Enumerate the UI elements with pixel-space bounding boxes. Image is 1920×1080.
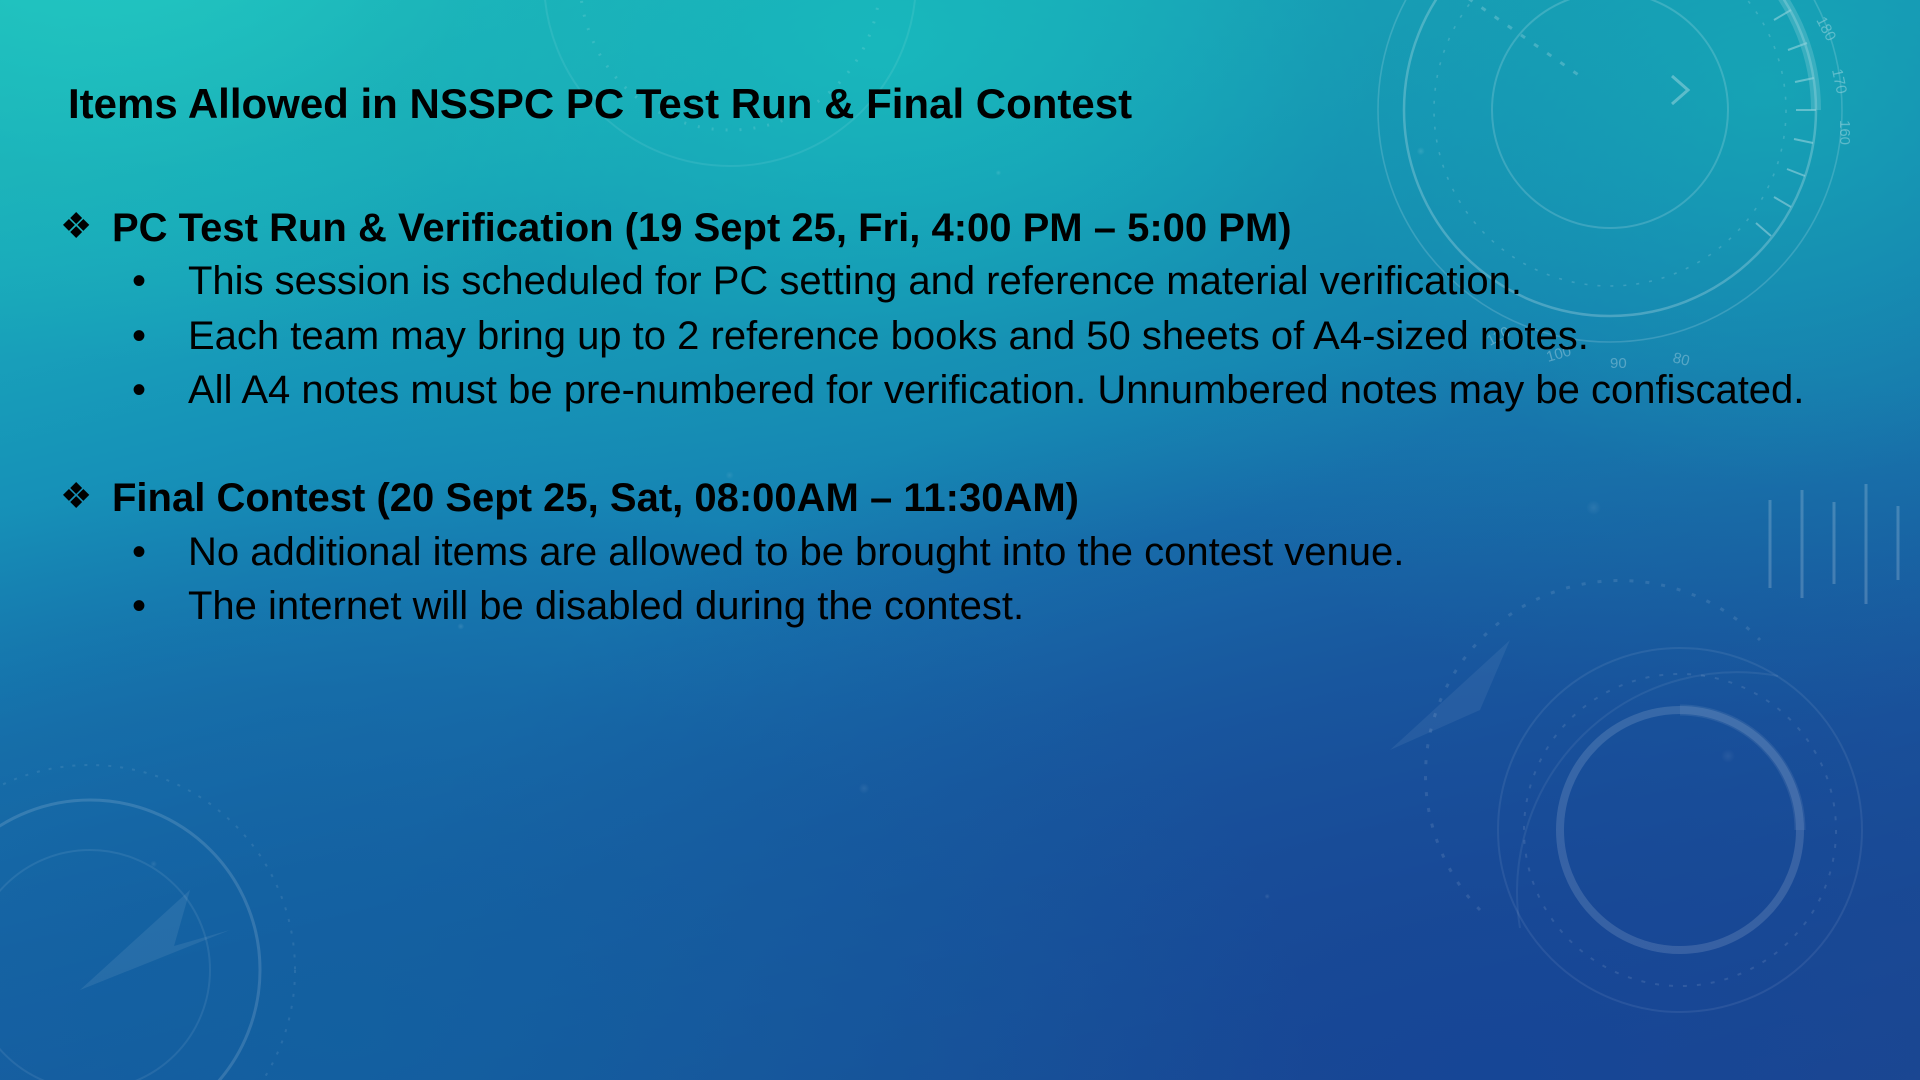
section-bullet-list: • No additional items are allowed to be …	[60, 525, 1920, 634]
list-item-text: Each team may bring up to 2 reference bo…	[188, 309, 1888, 363]
presentation-slide: 160 170 180 190 200 210 110 100 90 80	[0, 0, 1920, 1080]
section-pc-test-run: ❖ PC Test Run & Verification (19 Sept 25…	[60, 205, 1920, 417]
list-item: • This session is scheduled for PC setti…	[60, 254, 1920, 308]
section-final-contest: ❖ Final Contest (20 Sept 25, Sat, 08:00A…	[60, 475, 1920, 633]
section-heading-text: Final Contest (20 Sept 25, Sat, 08:00AM …	[112, 475, 1920, 522]
dot-bullet-icon: •	[132, 309, 188, 363]
list-item: • The internet will be disabled during t…	[60, 579, 1920, 633]
dot-bullet-icon: •	[132, 579, 188, 633]
section-heading: ❖ PC Test Run & Verification (19 Sept 25…	[60, 205, 1920, 252]
section-spacer	[60, 417, 1920, 475]
diamond-bullet-icon: ❖	[60, 475, 112, 517]
list-item: • No additional items are allowed to be …	[60, 525, 1920, 579]
slide-content: Items Allowed in NSSPC PC Test Run & Fin…	[0, 0, 1920, 1080]
list-item-text: This session is scheduled for PC setting…	[188, 254, 1888, 308]
diamond-bullet-icon: ❖	[60, 205, 112, 247]
list-item: • All A4 notes must be pre-numbered for …	[60, 363, 1920, 417]
list-item-text: All A4 notes must be pre-numbered for ve…	[188, 363, 1888, 417]
list-item-text: No additional items are allowed to be br…	[188, 525, 1888, 579]
dot-bullet-icon: •	[132, 525, 188, 579]
slide-body: ❖ PC Test Run & Verification (19 Sept 25…	[60, 205, 1920, 633]
dot-bullet-icon: •	[132, 363, 188, 417]
list-item: • Each team may bring up to 2 reference …	[60, 309, 1920, 363]
list-item-text: The internet will be disabled during the…	[188, 579, 1888, 633]
slide-title: Items Allowed in NSSPC PC Test Run & Fin…	[68, 82, 1768, 126]
section-heading-text: PC Test Run & Verification (19 Sept 25, …	[112, 205, 1920, 252]
section-heading: ❖ Final Contest (20 Sept 25, Sat, 08:00A…	[60, 475, 1920, 522]
section-bullet-list: • This session is scheduled for PC setti…	[60, 254, 1920, 417]
dot-bullet-icon: •	[132, 254, 188, 308]
